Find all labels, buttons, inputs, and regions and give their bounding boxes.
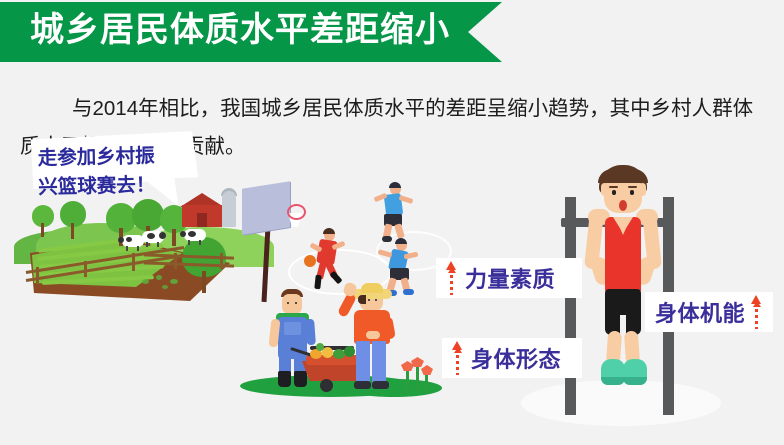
tree [60, 201, 86, 241]
bush [156, 275, 162, 280]
page-title: 城乡居民体质水平差距缩小 [30, 7, 450, 53]
cow [122, 235, 144, 247]
flowers [400, 357, 434, 393]
eye [630, 190, 634, 195]
straw-hat-crown [361, 283, 383, 293]
callout-label: 身体形态 [471, 342, 561, 374]
infographic-root: 城乡居民体质水平差距缩小 与2014年相比，我国城乡居民体质水平的差距呈缩小趋势… [0, 0, 784, 445]
basketball-player-red [302, 229, 350, 291]
silo [222, 191, 236, 227]
boot [278, 371, 291, 387]
callout-body-shape: 身体形态 [442, 338, 582, 378]
produce [316, 343, 324, 351]
bush [162, 285, 168, 289]
shoe [354, 381, 371, 389]
fence-post [220, 253, 223, 269]
fence-post [84, 261, 87, 277]
bar-post-left [565, 197, 576, 415]
overall-bib-pocket [284, 322, 301, 335]
speech-bubble-line-2: 兴篮球赛去！ [38, 170, 189, 202]
speech-bubble-text: 走参加乡村振 兴篮球赛去！ [37, 141, 188, 202]
pullup-athlete [579, 165, 661, 391]
hand [366, 331, 380, 339]
up-arrow-icon [446, 261, 457, 295]
fence-post [36, 267, 39, 283]
arm [305, 319, 316, 346]
callout-label: 身体机能 [655, 296, 745, 328]
bush [142, 279, 149, 284]
callout-body-function: 身体机能 [645, 292, 773, 332]
callout-strength-quality: 力量素质 [436, 258, 582, 298]
speech-bubble-line-1: 走参加乡村振 [37, 141, 188, 173]
tree [32, 205, 54, 239]
wheel [320, 379, 333, 392]
bush [170, 279, 178, 284]
basketball-hoop [287, 204, 306, 220]
open-mouth [619, 200, 627, 211]
eye [612, 190, 616, 195]
farmers-scene-illustration [248, 283, 434, 405]
shoe [372, 381, 389, 389]
up-arrow-icon [452, 341, 463, 375]
callout-label: 力量素质 [465, 262, 555, 294]
up-arrow-icon [751, 295, 762, 329]
backboard [242, 181, 290, 235]
cow [142, 231, 164, 243]
cow [184, 229, 206, 241]
fence-post [132, 253, 135, 271]
farmer-waving [344, 283, 406, 395]
head [282, 294, 302, 314]
fence-post [174, 253, 177, 269]
basketball [304, 255, 316, 267]
